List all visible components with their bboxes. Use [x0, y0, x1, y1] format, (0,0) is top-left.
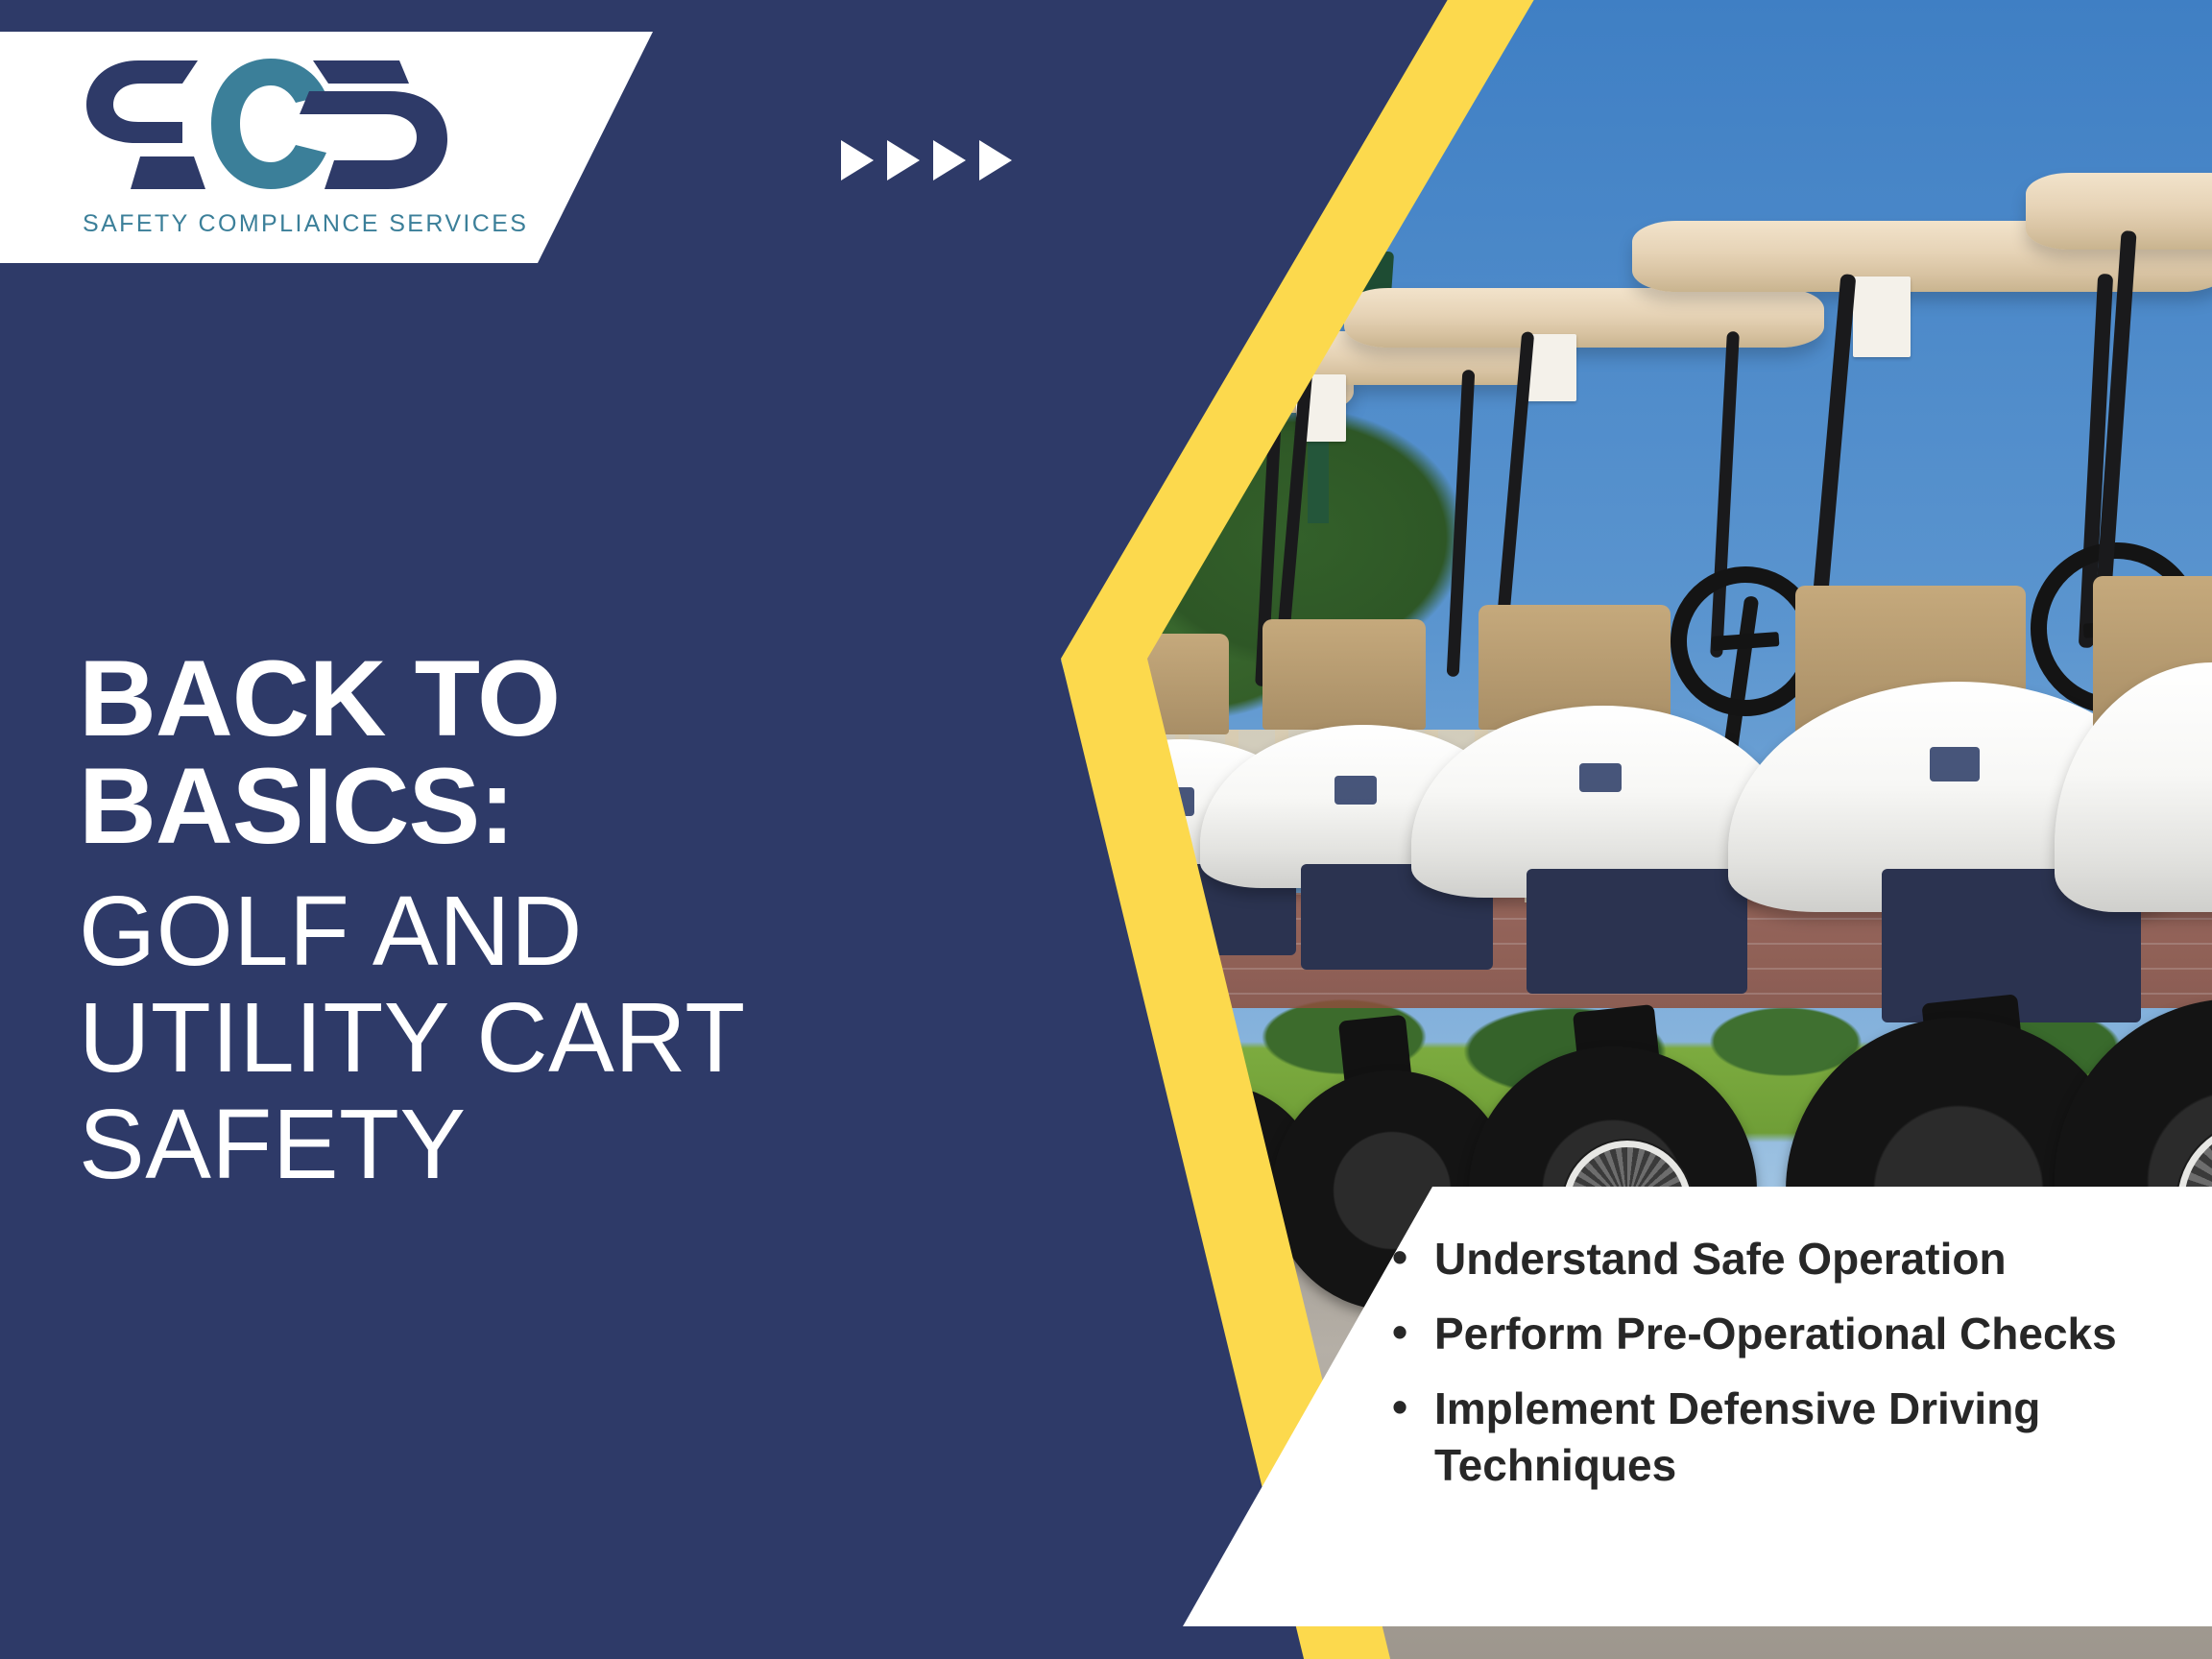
slide-root: SAFETY COMPLIANCE SERVICES BACK TO BASIC…	[0, 0, 2212, 1659]
play-triangle-right-icon	[841, 140, 874, 180]
scs-logo-icon	[83, 55, 467, 197]
headline-block: BACK TO BASICS: GOLF AND UTILITY CART SA…	[79, 645, 1068, 1198]
objectives-list: Understand Safe Operation Perform Pre-Op…	[1392, 1231, 2189, 1512]
play-triangle-right-icon	[979, 140, 1012, 180]
headline-secondary: GOLF AND UTILITY CART SAFETY	[79, 878, 1068, 1198]
play-triangle-right-icon	[933, 140, 966, 180]
headline-primary: BACK TO BASICS:	[79, 645, 1068, 860]
brand-logo-plate: SAFETY COMPLIANCE SERVICES	[0, 32, 653, 263]
list-item: Implement Defensive Driving Techniques	[1392, 1381, 2189, 1496]
arrow-row	[841, 140, 1012, 180]
list-item: Perform Pre-Operational Checks	[1392, 1306, 2189, 1363]
play-triangle-right-icon	[887, 140, 920, 180]
brand-tagline: SAFETY COMPLIANCE SERVICES	[83, 210, 476, 238]
list-item: Understand Safe Operation	[1392, 1231, 2189, 1288]
